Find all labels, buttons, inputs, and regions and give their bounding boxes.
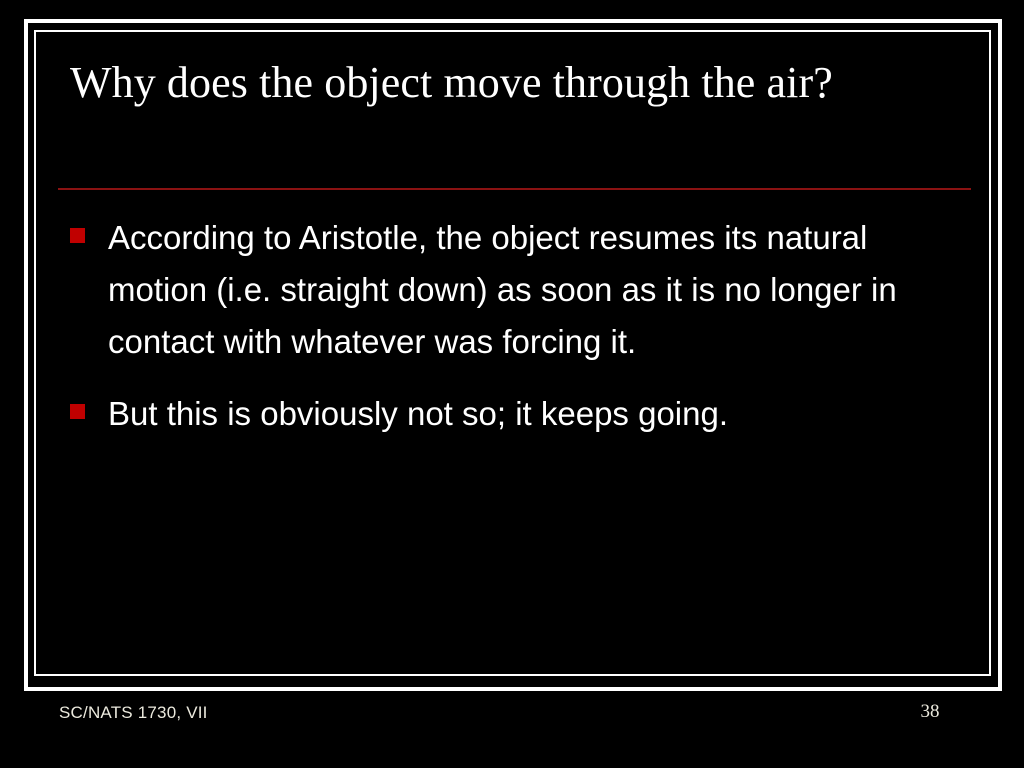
bullet-item: According to Aristotle, the object resum… <box>70 212 960 368</box>
bullet-item: But this is obviously not so; it keeps g… <box>70 388 960 440</box>
bullet-item-text: But this is obviously not so; it keeps g… <box>108 388 960 440</box>
footer-page-number: 38 <box>900 701 960 723</box>
red-square-bullet-icon <box>70 404 85 419</box>
presentation-slide: Why does the object move through the air… <box>0 0 1024 768</box>
slide-body: According to Aristotle, the object resum… <box>70 212 960 460</box>
red-square-bullet-icon <box>70 228 85 243</box>
footer-course-label: SC/NATS 1730, VII <box>59 703 208 723</box>
title-divider-rule <box>58 188 971 190</box>
slide-title: Why does the object move through the air… <box>70 58 970 107</box>
bullet-item-text: According to Aristotle, the object resum… <box>108 212 960 368</box>
